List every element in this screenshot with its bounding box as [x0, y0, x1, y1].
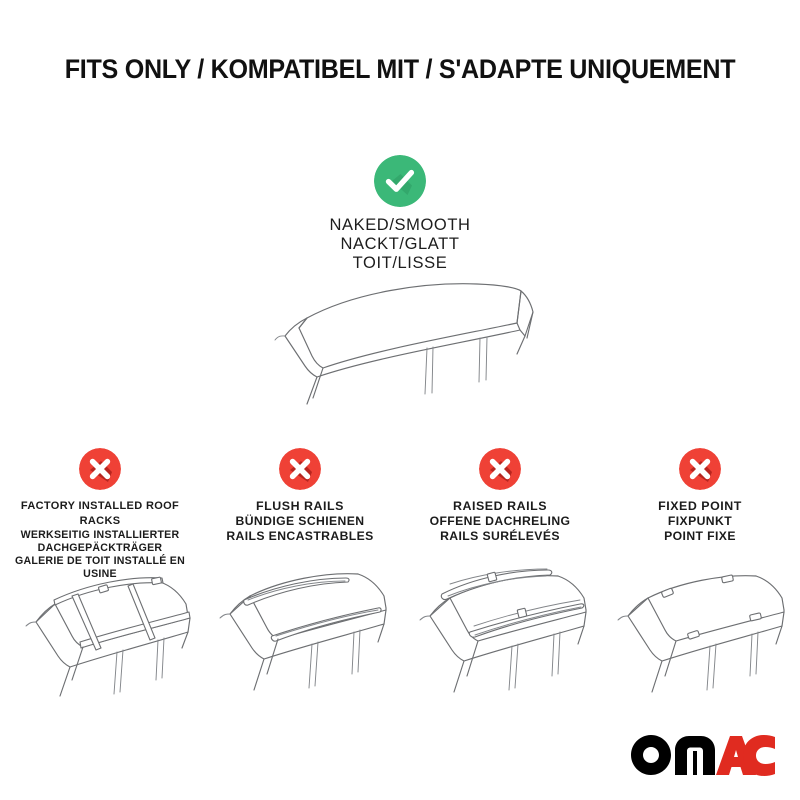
- smooth-roof-illustration: [255, 278, 565, 413]
- approved-label-line-3: TOIT/LISSE: [0, 254, 800, 273]
- label-line-3: RAILS ENCASTRABLES: [202, 529, 398, 544]
- raised-rails-illustration: [400, 556, 600, 701]
- factory-roof-rack-illustration: [0, 556, 200, 701]
- flush-rails-illustration: [200, 556, 400, 701]
- check-circle-icon: [374, 155, 426, 207]
- roof-type-label: FIXED POINT FIXPUNKT POINT FIXE: [600, 499, 800, 543]
- roof-type-label: FLUSH RAILS BÜNDIGE SCHIENEN RAILS ENCAS…: [200, 499, 400, 543]
- roof-type-flush-rails: FLUSH RAILS BÜNDIGE SCHIENEN RAILS ENCAS…: [200, 448, 400, 543]
- fixed-point-illustration: [600, 556, 800, 701]
- x-circle-icon: [479, 448, 521, 490]
- approved-roof-type-block: NAKED/SMOOTH NACKT/GLATT TOIT/LISSE: [0, 155, 800, 273]
- omac-logo: [630, 734, 776, 776]
- x-circle-icon: [679, 448, 721, 490]
- roof-type-factory-rack: FACTORY INSTALLED ROOF RACKS WERKSEITIG …: [0, 448, 200, 581]
- label-line-1: RAISED RAILS: [402, 499, 598, 514]
- label-line-1: FLUSH RAILS: [202, 499, 398, 514]
- incompatible-roof-types-row: FACTORY INSTALLED ROOF RACKS WERKSEITIG …: [0, 448, 800, 581]
- approved-label-line-1: NAKED/SMOOTH: [0, 216, 800, 235]
- label-line-2: WERKSEITIG INSTALLIERTER: [2, 529, 198, 542]
- approved-label-line-2: NACKT/GLATT: [0, 235, 800, 254]
- roof-type-fixed-point: FIXED POINT FIXPUNKT POINT FIXE: [600, 448, 800, 543]
- label-line-2: OFFENE DACHRELING: [402, 514, 598, 529]
- x-circle-icon: [79, 448, 121, 490]
- page-title: FITS ONLY / KOMPATIBEL MIT / S'ADAPTE UN…: [28, 54, 772, 85]
- label-line-2: BÜNDIGE SCHIENEN: [202, 514, 398, 529]
- roof-type-label: RAISED RAILS OFFENE DACHRELING RAILS SUR…: [400, 499, 600, 543]
- label-line-3: POINT FIXE: [602, 529, 798, 544]
- label-line-3: DACHGEPÄCKTRÄGER: [2, 542, 198, 555]
- label-line-2: FIXPUNKT: [602, 514, 798, 529]
- roof-type-raised-rails: RAISED RAILS OFFENE DACHRELING RAILS SUR…: [400, 448, 600, 543]
- label-line-1: FIXED POINT: [602, 499, 798, 514]
- label-line-1: FACTORY INSTALLED ROOF RACKS: [2, 499, 198, 529]
- x-circle-icon: [279, 448, 321, 490]
- approved-label: NAKED/SMOOTH NACKT/GLATT TOIT/LISSE: [0, 216, 800, 273]
- label-line-3: RAILS SURÉLEVÉS: [402, 529, 598, 544]
